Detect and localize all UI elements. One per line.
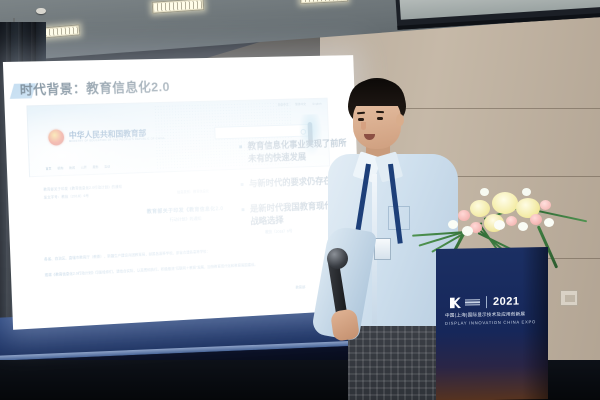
website-top-links: 简体中文 繁体中文 English [278, 102, 322, 107]
speaker-hand [330, 308, 360, 341]
website-nav-item-2: 新闻 [69, 166, 75, 170]
document-paragraph-2: 现将《教育信息化2.0行动计划》印发给你们，请结合实际，认真贯彻执行。积极推进“… [45, 259, 321, 280]
website-nav-item-1: 机构 [57, 166, 63, 170]
microphone-head-icon [327, 248, 348, 269]
lily-flower [492, 192, 518, 214]
expo-year: 2021 [493, 296, 519, 308]
lily-flower [470, 200, 490, 217]
podium: 2021 中国(上海)国际显示技术及应用创新展 DISPLAY INNOVATI… [436, 247, 548, 400]
expo-logo: 2021 [450, 296, 519, 309]
conference-photo-scene: 时代背景：教育信息化2.0 简体中文 繁体中文 English 中华人民共和国教… [0, 0, 600, 400]
smoke-detector-icon [36, 8, 46, 14]
rose-flower [506, 216, 517, 226]
document-meta-line-3: 信息类别：教育信息化 [177, 188, 209, 194]
k-logo-icon [450, 297, 461, 308]
speaker-trousers [348, 326, 442, 400]
website-nav-item-3: 公开 [81, 165, 87, 169]
speaker-ear [396, 114, 404, 126]
website-link-0: 简体中文 [278, 103, 289, 107]
speaker-hair-top [349, 80, 405, 106]
expo-name-cn: 中国(上海)国际显示技术及应用创新展 [445, 311, 525, 318]
document-footer: 教育部 [295, 285, 305, 290]
website-nav-item-4: 服务 [93, 165, 99, 169]
rose-flower [530, 214, 542, 225]
rose-flower [458, 210, 470, 221]
white-flower [494, 220, 505, 230]
white-flower [448, 220, 458, 229]
document-meta-line-1: 教育部关于印发《教育信息化2.0行动计划》的通知 [43, 184, 122, 192]
website-link-1: 繁体中文 [295, 102, 306, 106]
badge [374, 238, 391, 260]
white-flower [462, 226, 473, 236]
logo-text-lines-icon [465, 299, 480, 306]
speaker-nose [361, 122, 366, 130]
white-flower [522, 188, 531, 196]
white-flower [480, 188, 489, 196]
slide-title: 时代背景：教育信息化2.0 [19, 76, 170, 98]
speaker-eye [377, 117, 383, 120]
rose-flower [540, 200, 551, 210]
white-flower [518, 222, 528, 231]
projection-screen: 时代背景：教育信息化2.0 简体中文 繁体中文 English 中华人民共和国教… [3, 55, 363, 330]
speaker-brow [376, 111, 384, 113]
document-meta-line-2: 发文字号：教技〔2018〕6号 [44, 193, 90, 200]
white-flower [544, 218, 554, 227]
website-nav-item-5: 互动 [104, 164, 110, 168]
presentation-slide: 时代背景：教育信息化2.0 简体中文 繁体中文 English 中华人民共和国教… [3, 55, 363, 330]
speaker-eye [358, 118, 364, 121]
website-link-2: English [312, 102, 321, 106]
website-search-input [214, 124, 311, 139]
website-nav-item-0: 首页 [46, 166, 52, 170]
wall-outlet [560, 290, 578, 306]
